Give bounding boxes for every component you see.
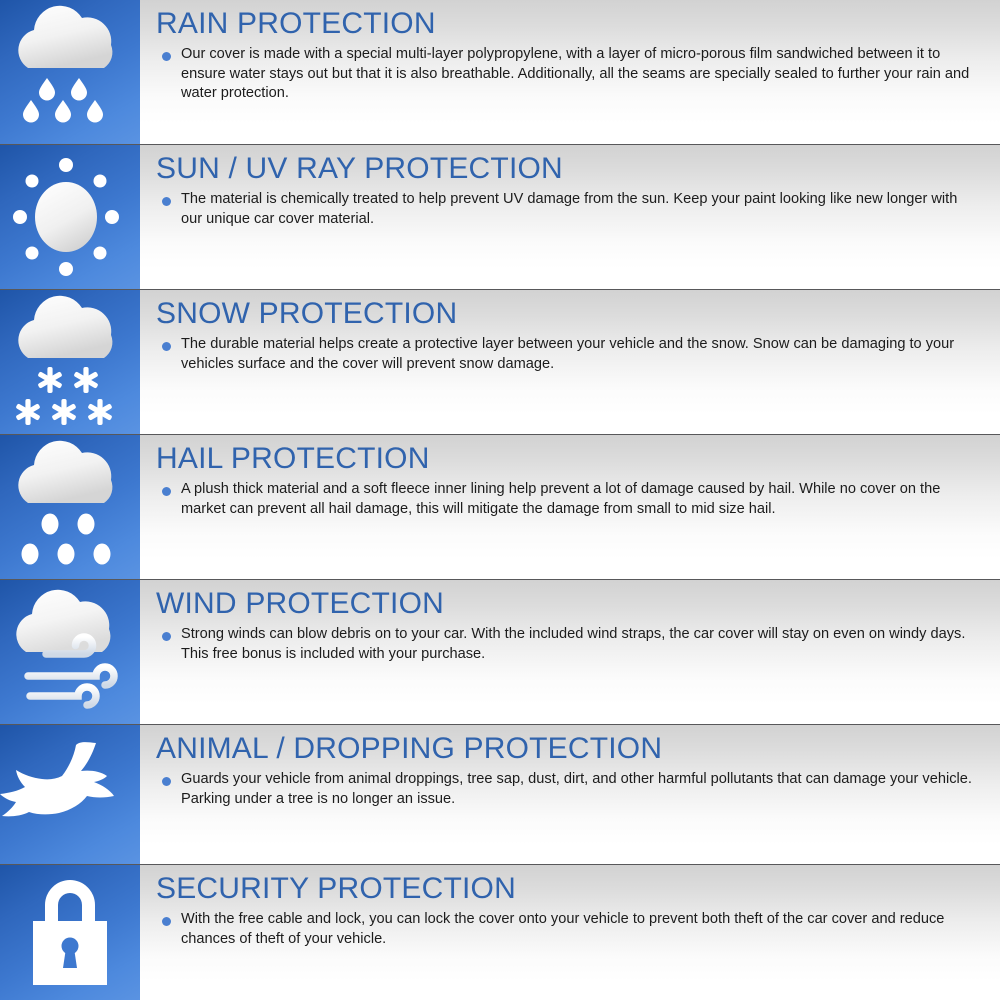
sun-icon (0, 145, 140, 289)
feature-title: ANIMAL / DROPPING PROTECTION (156, 731, 982, 766)
feature-row: RAIN PROTECTION Our cover is made with a… (0, 0, 1000, 144)
wind-icon-panel (0, 580, 140, 724)
bullet-icon (162, 487, 171, 496)
feature-row: SUN / UV RAY PROTECTION The material is … (0, 144, 1000, 289)
animal-icon-panel (0, 725, 140, 864)
feature-description-block: Guards your vehicle from animal dropping… (156, 770, 982, 809)
snow-text-panel: SNOW PROTECTION The durable material hel… (140, 290, 1000, 434)
feature-description: Strong winds can blow debris on to your … (181, 625, 982, 664)
feature-description-block: Strong winds can blow debris on to your … (156, 625, 982, 664)
feature-description: Guards your vehicle from animal dropping… (181, 770, 982, 809)
snow-icon-panel (0, 290, 140, 434)
feature-description: Our cover is made with a special multi-l… (181, 45, 982, 103)
feature-title: WIND PROTECTION (156, 586, 982, 621)
feature-row: SECURITY PROTECTION With the free cable … (0, 864, 1000, 1000)
bullet-icon (162, 777, 171, 786)
wind-text-panel: WIND PROTECTION Strong winds can blow de… (140, 580, 1000, 724)
rain-text-panel: RAIN PROTECTION Our cover is made with a… (140, 0, 1000, 144)
padlock-icon (0, 865, 140, 1000)
wind-cloud-icon (0, 580, 140, 724)
security-text-panel: SECURITY PROTECTION With the free cable … (140, 865, 1000, 1000)
hail-icon-panel (0, 435, 140, 579)
feature-description: With the free cable and lock, you can lo… (181, 910, 982, 949)
bullet-icon (162, 917, 171, 926)
feature-description-block: A plush thick material and a soft fleece… (156, 480, 982, 519)
animal-text-panel: ANIMAL / DROPPING PROTECTION Guards your… (140, 725, 1000, 864)
rain-icon-panel (0, 0, 140, 144)
feature-title: HAIL PROTECTION (156, 441, 982, 476)
feature-description: The material is chemically treated to he… (181, 190, 982, 229)
feature-title: RAIN PROTECTION (156, 6, 982, 41)
bullet-icon (162, 197, 171, 206)
feature-description-block: The durable material helps create a prot… (156, 335, 982, 374)
feature-title: SNOW PROTECTION (156, 296, 982, 331)
feature-row: WIND PROTECTION Strong winds can blow de… (0, 579, 1000, 724)
feature-row: ANIMAL / DROPPING PROTECTION Guards your… (0, 724, 1000, 864)
snow-cloud-icon (0, 290, 140, 434)
feature-description-block: Our cover is made with a special multi-l… (156, 45, 982, 103)
feature-title: SECURITY PROTECTION (156, 871, 982, 906)
features-infographic: RAIN PROTECTION Our cover is made with a… (0, 0, 1000, 1000)
bird-icon (0, 725, 140, 864)
feature-description-block: The material is chemically treated to he… (156, 190, 982, 229)
feature-title: SUN / UV RAY PROTECTION (156, 151, 982, 186)
security-icon-panel (0, 865, 140, 1000)
rain-cloud-icon (0, 0, 140, 144)
feature-row: HAIL PROTECTION A plush thick material a… (0, 434, 1000, 579)
hail-text-panel: HAIL PROTECTION A plush thick material a… (140, 435, 1000, 579)
sun-icon-panel (0, 145, 140, 289)
sun-text-panel: SUN / UV RAY PROTECTION The material is … (140, 145, 1000, 289)
hail-cloud-icon (0, 435, 140, 579)
bullet-icon (162, 632, 171, 641)
bullet-icon (162, 342, 171, 351)
feature-description: The durable material helps create a prot… (181, 335, 982, 374)
feature-description: A plush thick material and a soft fleece… (181, 480, 982, 519)
feature-description-block: With the free cable and lock, you can lo… (156, 910, 982, 949)
bullet-icon (162, 52, 171, 61)
feature-row: SNOW PROTECTION The durable material hel… (0, 289, 1000, 434)
